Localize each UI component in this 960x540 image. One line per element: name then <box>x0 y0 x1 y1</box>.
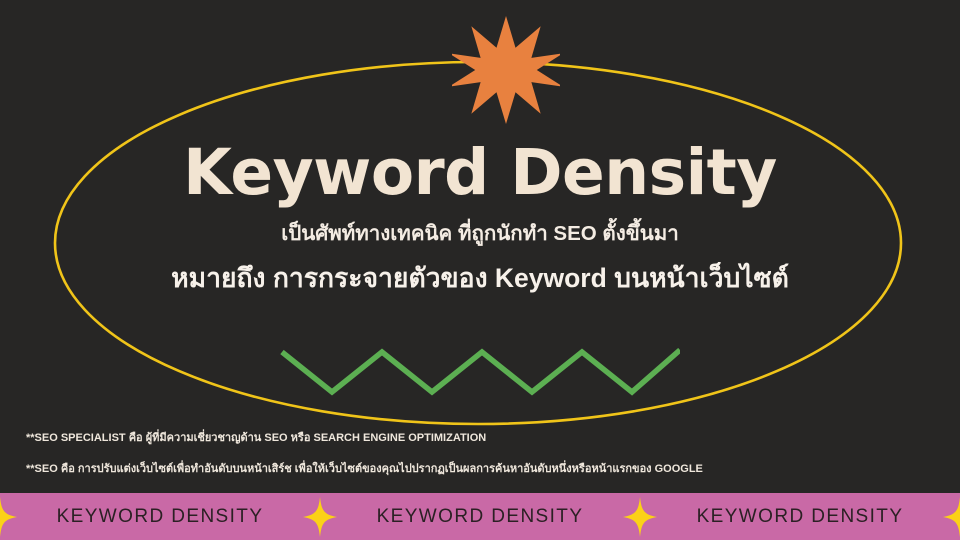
page-title: Keyword Density <box>0 140 960 206</box>
subtitle-line-1: เป็นศัพท์ทางเทคนิค ที่ถูกนักทำ SEO ตั้งข… <box>0 220 960 248</box>
sparkle-icon <box>943 497 960 537</box>
banner-text-1: KEYWORD DENSITY <box>57 506 264 528</box>
footnote-seo-specialist: **SEO SPECIALIST คือ ผู้ที่มีความเชี่ยวช… <box>26 432 936 446</box>
sparkle-icon <box>0 497 17 537</box>
green-zigzag-line <box>280 348 680 400</box>
subtitle-line-2: หมายถึง การกระจายตัวของ Keyword บนหน้าเว… <box>0 261 960 297</box>
sparkle-icon <box>623 497 657 537</box>
starburst-icon <box>452 14 560 126</box>
footnote-list: **SEO SPECIALIST คือ ผู้ที่มีความเชี่ยวช… <box>26 432 936 477</box>
banner-text-3: KEYWORD DENSITY <box>697 506 904 528</box>
bottom-marquee-banner: KEYWORD DENSITY KEYWORD DENSITY KEYWORD … <box>0 493 960 540</box>
banner-text-2: KEYWORD DENSITY <box>377 506 584 528</box>
hero-text-block: Keyword Density เป็นศัพท์ทางเทคนิค ที่ถู… <box>0 140 960 297</box>
poster-canvas: Keyword Density เป็นศัพท์ทางเทคนิค ที่ถู… <box>0 0 960 540</box>
sparkle-icon <box>303 497 337 537</box>
footnote-seo-definition: **SEO คือ การปรับแต่งเว็บไซต์เพื่อทำอันด… <box>26 463 936 477</box>
